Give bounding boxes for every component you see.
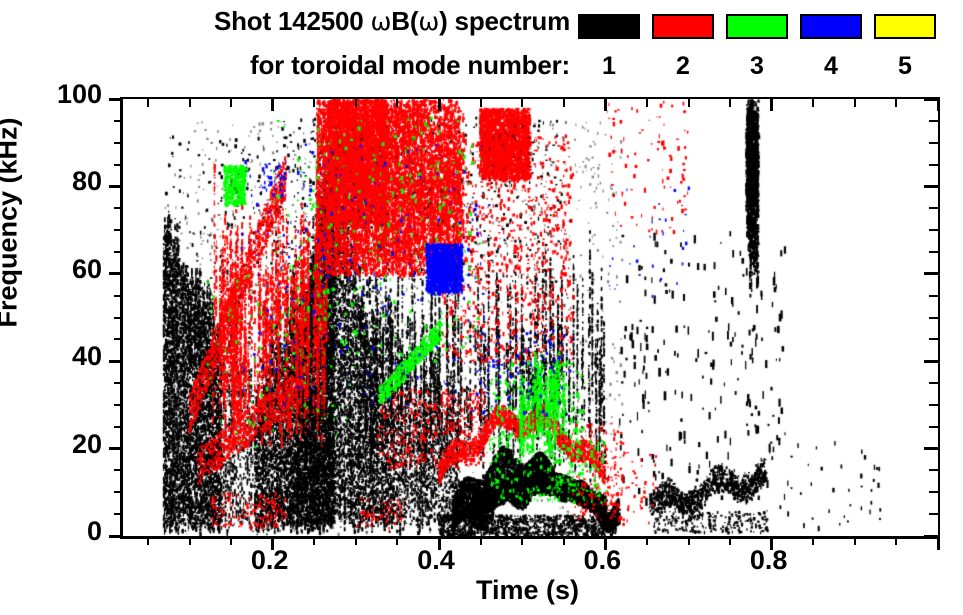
legend-swatch-mode-3: [726, 14, 788, 39]
omega-symbol-1: ω: [371, 7, 392, 36]
y-axis-label: Frequency (kHz): [0, 3, 24, 443]
x-tick-label: 0.8: [709, 545, 829, 576]
x-tick-top: [770, 99, 773, 111]
x-tick-top: [521, 99, 523, 107]
y-tick-minor: [114, 207, 123, 209]
x-tick-top: [854, 99, 856, 107]
y-tick-label: 0: [0, 516, 102, 547]
y-tick-minor: [114, 491, 123, 493]
x-tick-minor: [563, 536, 565, 545]
y-tick-major: [109, 360, 123, 363]
y-tick-minor: [114, 317, 123, 319]
x-tick-label: 0.4: [376, 545, 496, 576]
x-axis-label: Time (s): [120, 575, 935, 606]
x-tick-top: [646, 99, 648, 107]
y-tick-label: 20: [0, 429, 102, 460]
x-tick-top: [147, 99, 149, 107]
x-tick-minor: [480, 536, 482, 545]
x-tick-top: [937, 99, 940, 111]
y-tick-right: [929, 382, 938, 384]
x-tick-minor: [147, 536, 149, 545]
x-tick-label: 0.6: [542, 545, 662, 576]
y-tick-label: 40: [0, 341, 102, 372]
legend-swatches: [578, 14, 948, 40]
y-tick-right: [929, 338, 938, 340]
y-tick-label: 100: [0, 79, 102, 110]
legend-labels: 12345: [578, 52, 948, 82]
x-tick-top: [396, 99, 398, 107]
y-tick-minor: [114, 251, 123, 253]
y-tick-right: [929, 229, 938, 231]
y-tick-minor: [114, 164, 123, 166]
x-tick-minor: [396, 536, 398, 545]
y-tick-right: [929, 164, 938, 166]
y-tick-right: [929, 491, 938, 493]
x-tick-top: [895, 99, 897, 107]
y-tick-right: [929, 295, 938, 297]
x-tick-minor: [313, 536, 315, 545]
y-tick-label: 60: [0, 254, 102, 285]
y-tick-minor: [114, 295, 123, 297]
y-tick-minor: [114, 513, 123, 515]
legend-label-mode-1: 1: [578, 52, 640, 81]
y-tick-right: [924, 272, 938, 275]
y-tick-major: [109, 98, 123, 101]
x-tick-minor: [230, 536, 232, 545]
y-tick-minor: [114, 426, 123, 428]
legend-swatch-mode-2: [652, 14, 714, 39]
x-tick-top: [355, 99, 357, 107]
y-tick-major: [109, 272, 123, 275]
y-tick-right: [929, 142, 938, 144]
y-tick-right: [929, 426, 938, 428]
y-tick-right: [929, 317, 938, 319]
legend-label-mode-3: 3: [726, 52, 788, 81]
y-tick-major: [109, 535, 123, 538]
y-tick-minor: [114, 142, 123, 144]
spectrogram-canvas: [123, 99, 938, 536]
x-tick-minor: [646, 536, 648, 545]
y-tick-right: [924, 360, 938, 363]
x-tick-top: [313, 99, 315, 107]
y-tick-right: [929, 251, 938, 253]
legend-swatch-mode-5: [874, 14, 936, 39]
spectrogram-figure: Shot 142500 ωB(ω) spectrum for toroidal …: [0, 0, 963, 615]
x-tick-top: [812, 99, 814, 107]
x-tick-label: 0.2: [210, 545, 330, 576]
y-tick-label: 80: [0, 166, 102, 197]
x-tick-top: [563, 99, 565, 107]
x-tick-top: [438, 99, 441, 111]
y-tick-right: [924, 185, 938, 188]
y-tick-right: [929, 469, 938, 471]
legend-label-mode-2: 2: [652, 52, 714, 81]
legend-swatch-mode-4: [800, 14, 862, 39]
x-tick-top: [271, 99, 274, 111]
y-tick-right: [929, 404, 938, 406]
x-tick-top: [480, 99, 482, 107]
x-tick-top: [688, 99, 690, 107]
x-tick-minor: [355, 536, 357, 545]
x-tick-minor: [521, 536, 523, 545]
y-tick-right: [924, 447, 938, 450]
x-tick-minor: [729, 536, 731, 545]
y-tick-minor: [114, 382, 123, 384]
legend-label-mode-5: 5: [874, 52, 936, 81]
y-tick-right: [929, 513, 938, 515]
x-tick-minor: [189, 536, 191, 545]
y-tick-right: [929, 120, 938, 122]
x-tick-minor: [688, 536, 690, 545]
y-tick-major: [109, 447, 123, 450]
figure-title-line-1: Shot 142500 ωB(ω) spectrum: [0, 6, 570, 37]
x-tick-minor: [895, 536, 897, 545]
x-tick-top: [189, 99, 191, 107]
y-tick-minor: [114, 469, 123, 471]
y-tick-minor: [114, 404, 123, 406]
y-tick-minor: [114, 229, 123, 231]
omega-symbol-2: ω: [418, 7, 439, 36]
x-tick-major: [937, 536, 940, 550]
x-tick-top: [230, 99, 232, 107]
legend-label-mode-4: 4: [800, 52, 862, 81]
y-tick-major: [109, 185, 123, 188]
y-tick-minor: [114, 338, 123, 340]
legend-swatch-mode-1: [578, 14, 640, 39]
y-tick-minor: [114, 120, 123, 122]
x-tick-minor: [812, 536, 814, 545]
y-tick-right: [929, 207, 938, 209]
title-mid: B(: [391, 6, 418, 36]
x-tick-minor: [854, 536, 856, 545]
x-tick-top: [729, 99, 731, 107]
title-suffix: ) spectrum: [439, 6, 570, 36]
plot-area: [120, 97, 940, 539]
title-prefix: Shot 142500: [214, 6, 371, 36]
x-tick-top: [604, 99, 607, 111]
figure-title-line-2: for toroidal mode number:: [0, 50, 570, 81]
